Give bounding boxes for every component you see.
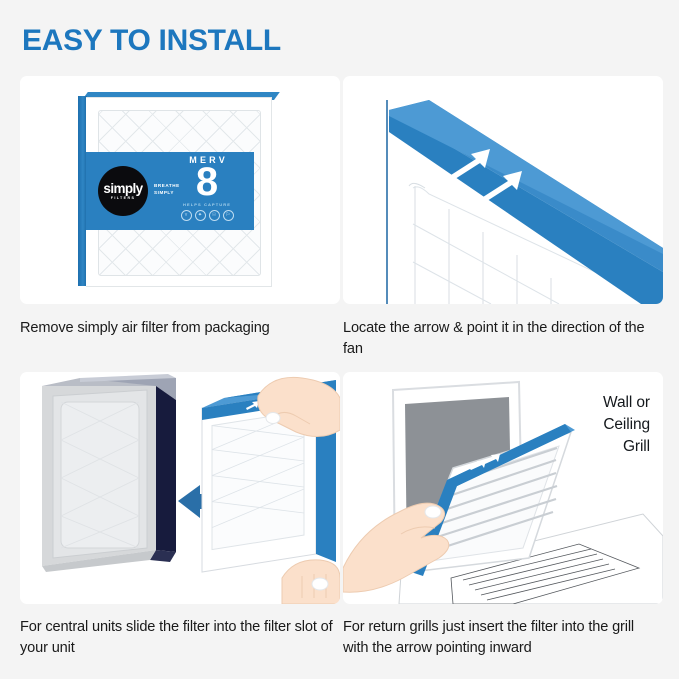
dust-icon: ▿ bbox=[181, 210, 192, 221]
central-unit-icon bbox=[42, 374, 176, 572]
grill-annotation-line-3: Grill bbox=[603, 436, 650, 458]
grill-annotation-line-2: Ceiling bbox=[603, 414, 650, 436]
step-4-caption: For return grills just insert the filter… bbox=[343, 617, 663, 659]
pollen-icon: ✦ bbox=[195, 210, 206, 221]
brand-subtitle: FILTERS bbox=[111, 196, 136, 200]
step-card-1: simply FILTERS BREATHE SIMPLY MERV 8 HEL… bbox=[20, 76, 340, 372]
box-front-face: simply FILTERS BREATHE SIMPLY MERV 8 HEL… bbox=[86, 97, 272, 287]
step-3-illustration bbox=[20, 372, 340, 604]
filter-box-icon: simply FILTERS BREATHE SIMPLY MERV 8 HEL… bbox=[78, 92, 276, 290]
merv-rating-block: MERV 8 HELPS CAPTURE ▿ ✦ ☉ ⚐ bbox=[176, 156, 238, 221]
brand-logo: simply FILTERS bbox=[98, 166, 148, 216]
pet-dander-icon: ⚐ bbox=[223, 210, 234, 221]
step-1-caption: Remove simply air filter from packaging bbox=[20, 318, 340, 339]
step-3-caption: For central units slide the filter into … bbox=[20, 617, 340, 659]
step-4-illustration: Wall or Ceiling Grill bbox=[343, 372, 663, 604]
helps-capture-label: HELPS CAPTURE bbox=[176, 202, 238, 207]
frame-band-front bbox=[389, 110, 663, 304]
merv-value: 8 bbox=[176, 164, 238, 201]
step-2-caption: Locate the arrow & point it in the direc… bbox=[343, 318, 663, 360]
airflow-arrow-diagram bbox=[343, 76, 663, 304]
grill-annotation-line-1: Wall or bbox=[603, 392, 650, 414]
frame-band-highlight bbox=[389, 100, 663, 254]
steps-grid: simply FILTERS BREATHE SIMPLY MERV 8 HEL… bbox=[0, 76, 679, 676]
page-title: EASY TO INSTALL bbox=[22, 26, 281, 56]
central-unit-diagram bbox=[20, 372, 340, 604]
step-2-illustration bbox=[343, 76, 663, 304]
step-card-4: Wall or Ceiling Grill For return grills … bbox=[343, 372, 663, 668]
step-card-2: Locate the arrow & point it in the direc… bbox=[343, 76, 663, 372]
step-1-illustration: simply FILTERS BREATHE SIMPLY MERV 8 HEL… bbox=[20, 76, 340, 304]
product-label: simply FILTERS BREATHE SIMPLY MERV 8 HEL… bbox=[86, 152, 254, 230]
capture-icon-row: ▿ ✦ ☉ ⚐ bbox=[176, 210, 238, 221]
grill-annotation: Wall or Ceiling Grill bbox=[603, 392, 650, 458]
mold-icon: ☉ bbox=[209, 210, 220, 221]
brand-name: simply bbox=[103, 182, 142, 196]
step-card-3: For central units slide the filter into … bbox=[20, 372, 340, 668]
